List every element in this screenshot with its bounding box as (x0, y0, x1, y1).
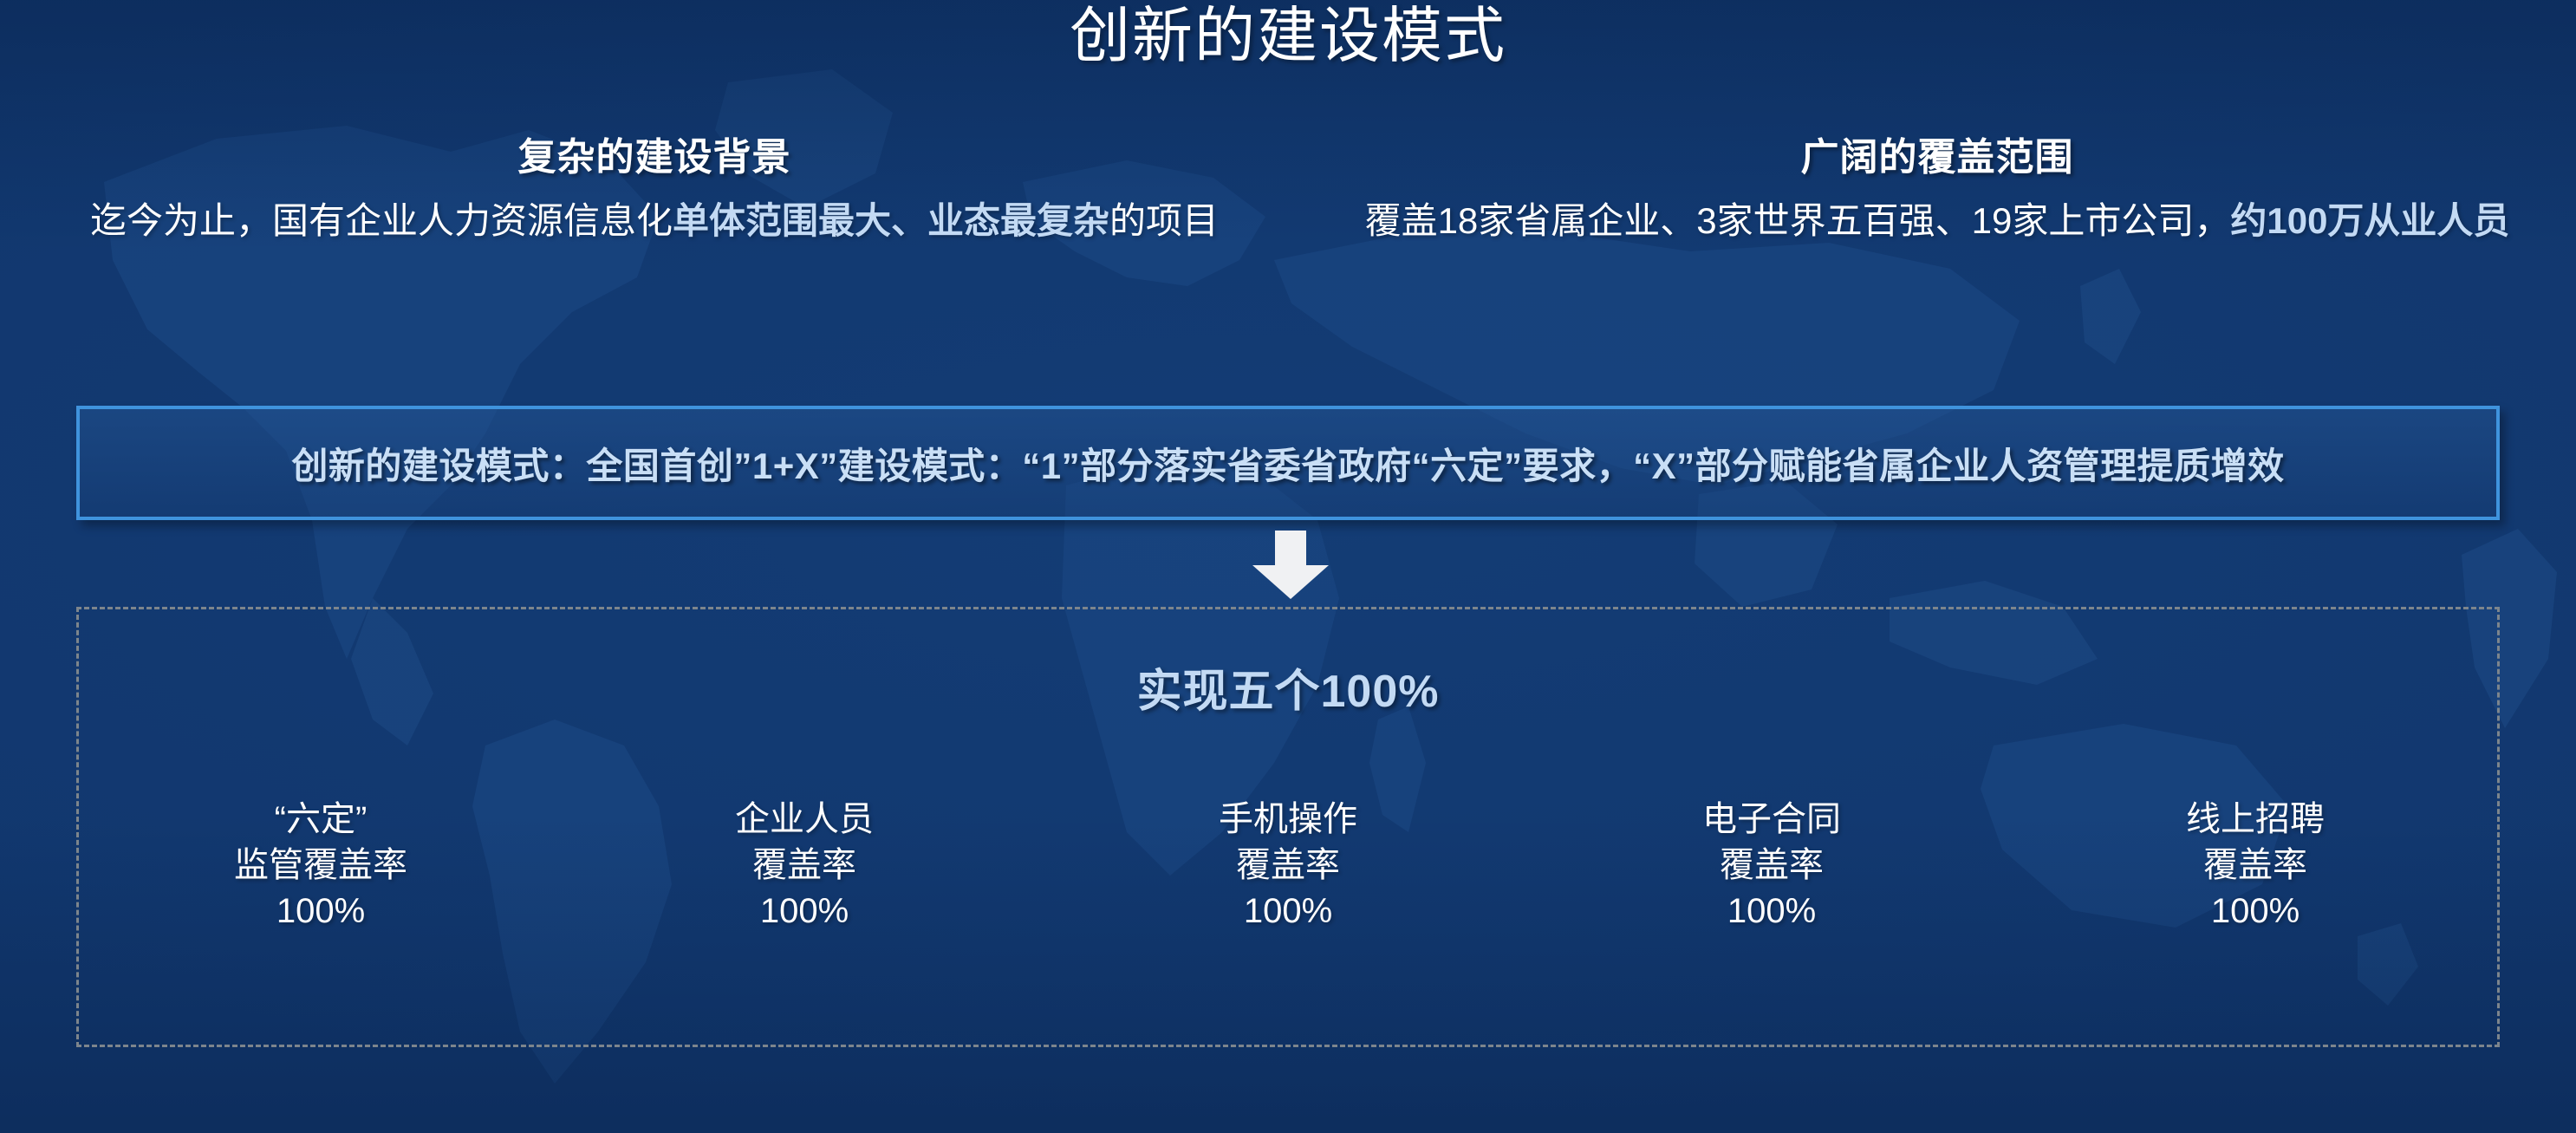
intro-column-right: 广阔的覆盖范围 覆盖18家省属企业、3家世界五百强、19家上市公司，约100万从… (1352, 137, 2522, 244)
metrics-row: “六定” 监管覆盖率 100% 企业人员 覆盖率 100% 手机操作 覆盖率 1… (79, 797, 2497, 935)
intro-body-right: 覆盖18家省属企业、3家世界五百强、19家上市公司，约100万从业人员 (1352, 198, 2522, 244)
metric-label-line2: 覆盖率 (1530, 843, 2013, 889)
intro-body-right-highlight: 约100万从业人员 (2230, 200, 2509, 241)
metric-label-line2: 覆盖率 (1046, 843, 1530, 889)
intro-heading-left: 复杂的建设背景 (52, 137, 1257, 179)
metric-label-line2: 覆盖率 (2013, 843, 2497, 889)
highlight-banner: 创新的建设模式：全国首创”1+X”建设模式：“1”部分落实省委省政府“六定”要求… (76, 406, 2500, 520)
intro-heading-right: 广阔的覆盖范围 (1352, 137, 2522, 179)
intro-body-left-part2: 的项目 (1109, 200, 1219, 241)
metric-label-line1: 电子合同 (1530, 797, 2013, 843)
metric-label-line1: “六定” (79, 797, 563, 843)
metric-item: 手机操作 覆盖率 100% (1046, 797, 1530, 935)
arrow-down-icon (1251, 531, 1330, 600)
intro-body-left-highlight: 单体范围最大、业态最复杂 (673, 200, 1109, 241)
highlight-banner-text: 创新的建设模式：全国首创”1+X”建设模式：“1”部分落实省委省政府“六定”要求… (291, 437, 2284, 490)
metric-item: 电子合同 覆盖率 100% (1530, 797, 2013, 935)
metric-label-line1: 企业人员 (563, 797, 1046, 843)
intro-column-left: 复杂的建设背景 迄今为止，国有企业人力资源信息化单体范围最大、业态最复杂的项目 (52, 137, 1257, 244)
results-heading: 实现五个100% (79, 654, 2497, 720)
metric-value: 100% (2013, 889, 2497, 934)
intro-body-left-part1: 迄今为止，国有企业人力资源信息化 (90, 200, 673, 241)
metric-label-line1: 线上招聘 (2013, 797, 2497, 843)
page-title: 创新的建设模式 (0, 5, 2576, 66)
results-panel: 实现五个100% “六定” 监管覆盖率 100% 企业人员 覆盖率 100% 手… (76, 607, 2500, 1047)
metric-label-line1: 手机操作 (1046, 797, 1530, 843)
metric-item: 线上招聘 覆盖率 100% (2013, 797, 2497, 935)
metric-value: 100% (1046, 889, 1530, 934)
intro-body-left: 迄今为止，国有企业人力资源信息化单体范围最大、业态最复杂的项目 (52, 198, 1257, 244)
intro-body-right-part1: 覆盖18家省属企业、3家世界五百强、19家上市公司， (1365, 200, 2231, 241)
metric-value: 100% (1530, 889, 2013, 934)
metric-value: 100% (79, 889, 563, 934)
metric-value: 100% (563, 889, 1046, 934)
metric-label-line2: 监管覆盖率 (79, 843, 563, 889)
metric-label-line2: 覆盖率 (563, 843, 1046, 889)
slide-canvas: 创新的建设模式 复杂的建设背景 迄今为止，国有企业人力资源信息化单体范围最大、业… (0, 0, 2576, 1133)
metric-item: 企业人员 覆盖率 100% (563, 797, 1046, 935)
metric-item: “六定” 监管覆盖率 100% (79, 797, 563, 935)
